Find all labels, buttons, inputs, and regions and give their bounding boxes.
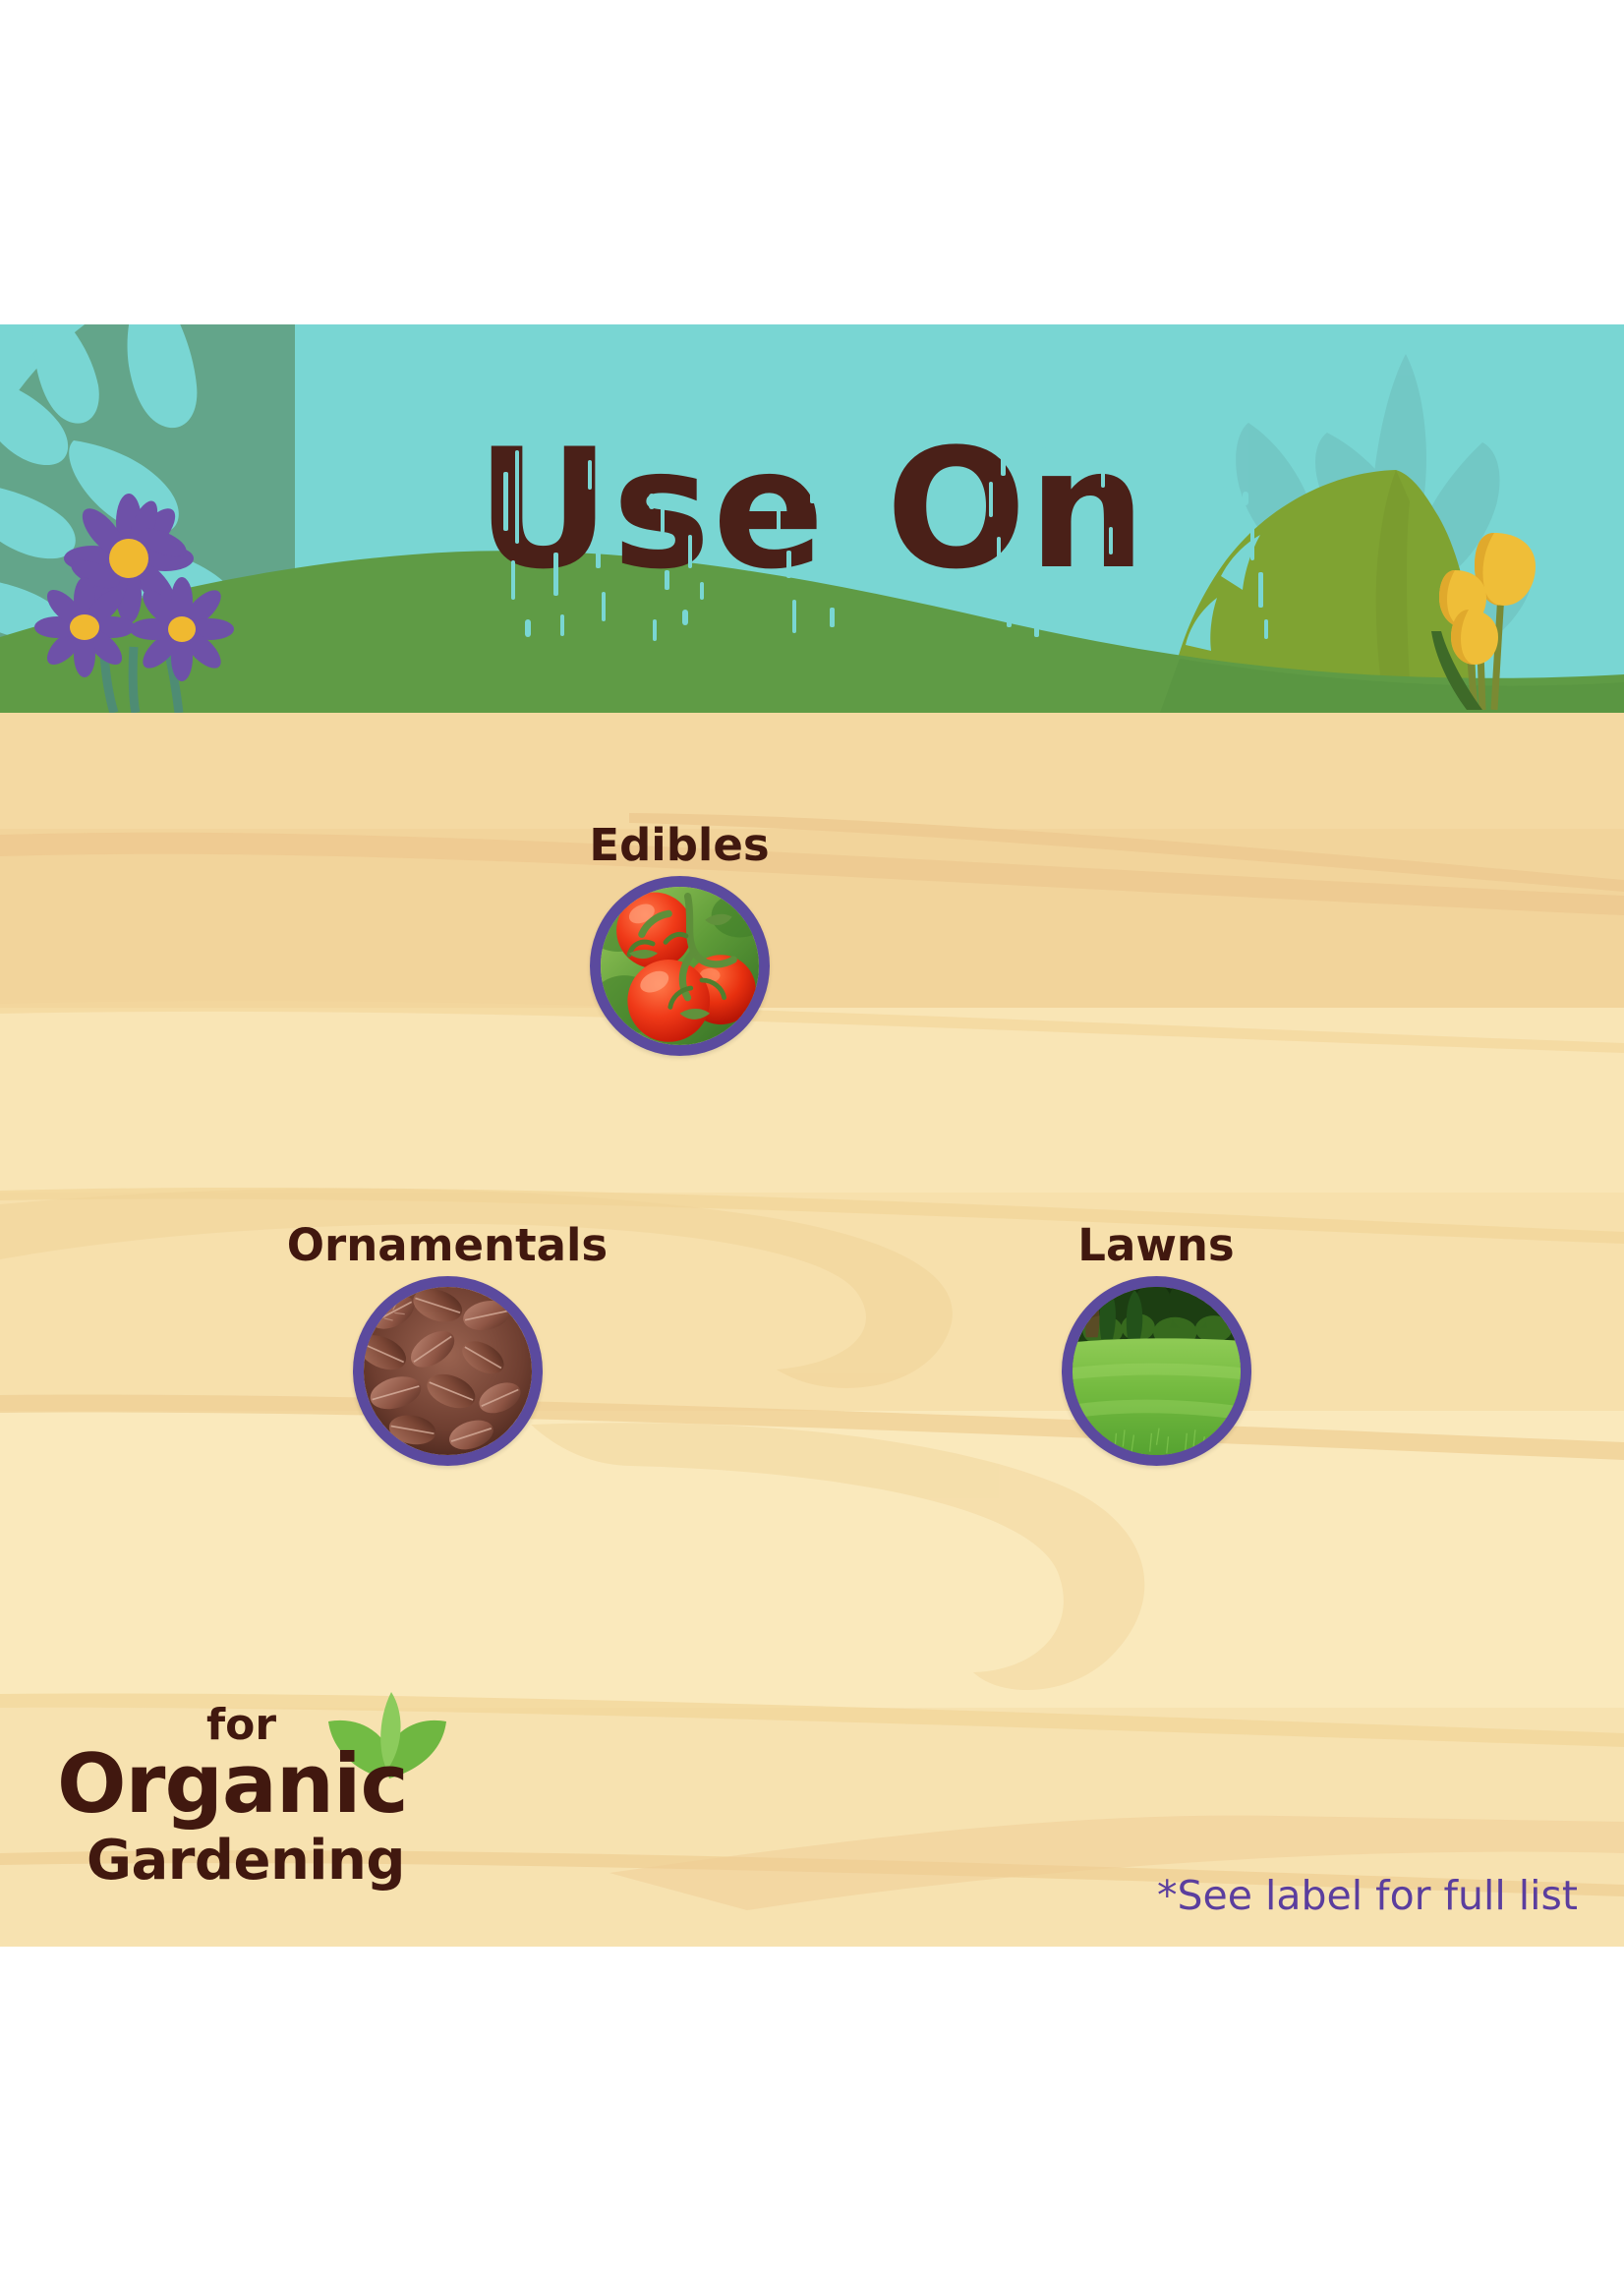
ornamentals-photo-circle[interactable] <box>353 1276 543 1466</box>
footnote-see-label: *See label for full list <box>1157 1876 1578 1916</box>
use-on-item-label: Lawns <box>964 1222 1348 1268</box>
use-on-item-ornamentals[interactable]: Ornamentals <box>164 1222 730 1466</box>
lawns-photo-circle[interactable] <box>1062 1276 1251 1466</box>
poster-canvas: Use On <box>0 0 1624 2274</box>
hero-banner: Use On <box>0 324 1624 713</box>
bronze-ornamental-leaves-icon <box>364 1287 532 1455</box>
edibles-photo-circle[interactable] <box>590 876 770 1056</box>
use-on-item-label: Edibles <box>488 822 871 868</box>
tomatoes-on-vine-icon <box>601 887 759 1045</box>
use-on-item-edibles[interactable]: Edibles <box>488 822 871 1056</box>
logo-organic-text: Organic <box>57 1743 408 1825</box>
use-on-item-label: Ornamentals <box>164 1222 730 1268</box>
use-on-item-lawns[interactable]: Lawns <box>964 1222 1348 1466</box>
green-lawn-icon <box>1073 1287 1241 1455</box>
for-organic-gardening-logo: for Organic Gardening <box>39 1696 501 1922</box>
hero-illustration <box>0 324 1624 713</box>
logo-gardening-text: Gardening <box>87 1834 405 1889</box>
